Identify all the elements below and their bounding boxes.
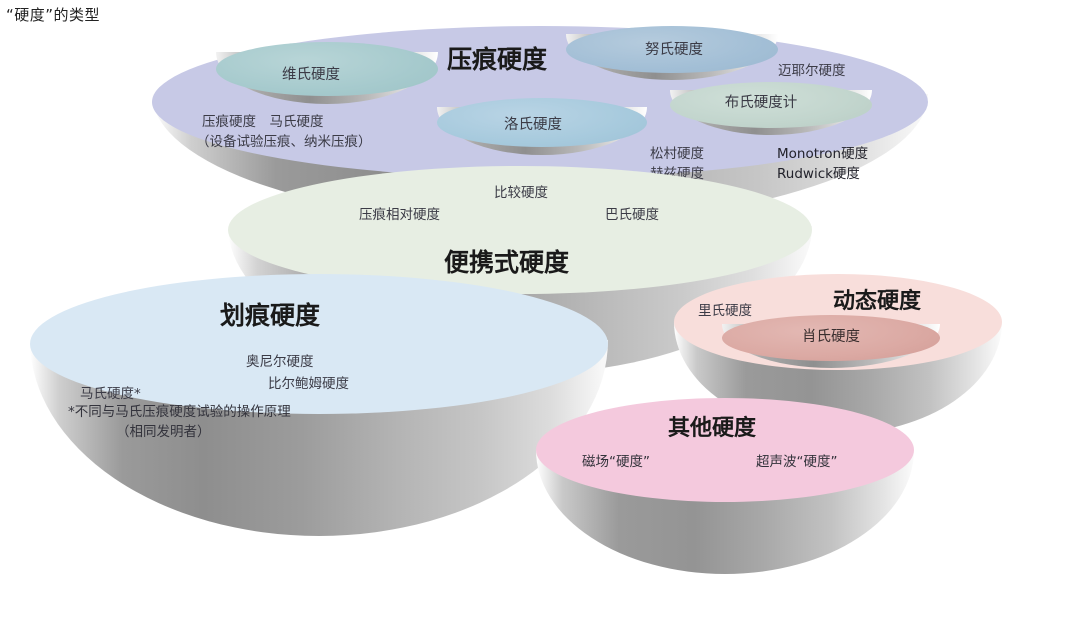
- label-rockwell-hardness: 洛氏硬度: [504, 113, 562, 134]
- label-meyer-hardness: 迈耶尔硬度: [778, 59, 846, 79]
- label-other-heading: 其他硬度: [668, 410, 756, 442]
- label-scratch-footnote-1: *不同与马氏压痕硬度试验的操作原理: [68, 400, 291, 420]
- label-indentation-line2: （设备试验压痕、纳米压痕）: [196, 130, 372, 150]
- label-dynamic-heading: 动态硬度: [833, 283, 921, 315]
- label-vickers-hardness: 维氏硬度: [282, 63, 340, 84]
- label-scratch-footnote-2: （相同发明者）: [116, 420, 211, 440]
- label-matsumura-hardness: 松村硬度: [650, 142, 704, 162]
- label-knoop-hardness: 努氏硬度: [645, 38, 703, 59]
- label-shore-hardness: 肖氏硬度: [802, 325, 860, 346]
- label-bierbaum-hardness: 比尔鲍姆硬度: [268, 372, 349, 392]
- page-title: “硬度”的类型: [6, 4, 100, 25]
- label-scratch-heading: 划痕硬度: [220, 296, 320, 332]
- label-barcol-hardness: 巴氏硬度: [605, 203, 659, 223]
- label-oneill-hardness: 奥尼尔硬度: [246, 350, 314, 370]
- label-comparative-hardness: 比较硬度: [494, 181, 548, 201]
- label-martens-hardness: 马氏硬度*: [80, 382, 141, 402]
- label-monotron-hardness: Monotron硬度: [777, 142, 868, 162]
- label-magnetic-hardness: 磁场“硬度”: [582, 450, 650, 470]
- label-indentation-relative-hardness: 压痕相对硬度: [359, 203, 440, 223]
- label-ultrasonic-hardness: 超声波“硬度”: [756, 450, 838, 470]
- diagram-canvas: “硬度”的类型 压痕硬度 压痕硬度 马氏硬度 （设备试验压痕、纳米压痕） 迈耶尔…: [0, 0, 1080, 624]
- label-indentation-line1: 压痕硬度 马氏硬度: [202, 110, 324, 130]
- label-brinell-hardness: 布氏硬度计: [725, 91, 798, 112]
- label-indentation-heading: 压痕硬度: [447, 40, 547, 76]
